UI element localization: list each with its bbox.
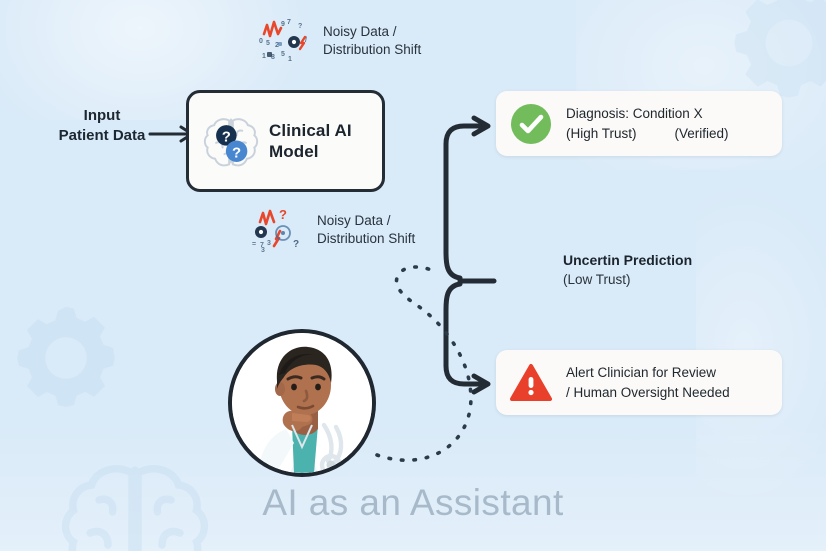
diagnosis-trust: (High Trust)	[566, 124, 637, 143]
clinician-avatar[interactable]	[228, 329, 376, 477]
svg-text:/: /	[305, 37, 307, 44]
arrowhead-diagnosis	[474, 118, 488, 134]
output-card-alert[interactable]: Alert Clinician for Review / Human Overs…	[496, 350, 782, 415]
diagnosis-line-1: Diagnosis: Condition X	[566, 104, 729, 123]
noise-group-bottom: ? ? =7 33 Noisy Data / Distribution Shif…	[252, 205, 415, 255]
alert-text: Alert Clinician for Review / Human Overs…	[566, 363, 730, 401]
diagram-canvas: Input Patient Data ? ? Clinical AI Model	[0, 0, 826, 551]
noise-group-top: 97 05 21 85 1/ ? Noisy Data / Distributi…	[258, 16, 421, 66]
diagnosis-verified: (Verified)	[675, 124, 729, 143]
svg-text:?: ?	[232, 144, 241, 161]
svg-text:5: 5	[281, 51, 285, 58]
green-check-circle-icon	[510, 103, 552, 145]
svg-text:=: =	[252, 241, 256, 248]
brain-question-mark-icon: ? ?	[203, 113, 259, 169]
noisy-data-scatter-icon: ? ? =7 33	[252, 205, 310, 255]
svg-text:1: 1	[288, 56, 292, 63]
svg-text:?: ?	[222, 128, 231, 145]
flow-connectors	[0, 0, 826, 551]
diagnosis-line-2: (High Trust) (Verified)	[566, 124, 729, 143]
alert-line-2: / Human Oversight Needed	[566, 383, 730, 402]
clinician-avatar-icon	[232, 333, 372, 473]
svg-text:0: 0	[259, 38, 263, 45]
dashed-feedback-arrow-icon	[377, 267, 471, 460]
clinical-ai-model-box[interactable]: ? ? Clinical AI Model	[186, 90, 385, 192]
svg-text:1: 1	[262, 53, 266, 60]
arrowhead-alert	[474, 376, 488, 392]
uncertain-prediction-subtitle: (Low Trust)	[563, 271, 631, 289]
page-title: AI as an Assistant	[0, 482, 826, 524]
svg-text:?: ?	[298, 23, 302, 30]
svg-text:7: 7	[287, 19, 291, 26]
gear-icon	[8, 300, 124, 416]
svg-text:?: ?	[279, 207, 287, 222]
output-card-diagnosis[interactable]: Diagnosis: Condition X (High Trust) (Ver…	[496, 91, 782, 156]
noise-label: Noisy Data / Distribution Shift	[317, 212, 415, 248]
curly-brace-branch-icon	[446, 126, 494, 384]
svg-text:3: 3	[267, 240, 271, 247]
svg-text:3: 3	[261, 247, 265, 254]
noise-label: Noisy Data / Distribution Shift	[323, 23, 421, 59]
svg-text:?: ?	[293, 239, 299, 250]
background-wash-right	[696, 180, 826, 510]
diagnosis-text: Diagnosis: Condition X (High Trust) (Ver…	[566, 104, 729, 142]
model-title: Clinical AI Model	[269, 120, 352, 163]
noisy-data-scatter-icon: 97 05 21 85 1/ ?	[258, 16, 316, 66]
uncertain-prediction-title: Uncertin Prediction	[563, 251, 692, 269]
spacer	[637, 124, 675, 143]
svg-text:5: 5	[266, 40, 270, 47]
svg-text:9: 9	[281, 21, 285, 28]
alert-line-1: Alert Clinician for Review	[566, 363, 730, 382]
red-warning-triangle-icon	[510, 362, 552, 404]
